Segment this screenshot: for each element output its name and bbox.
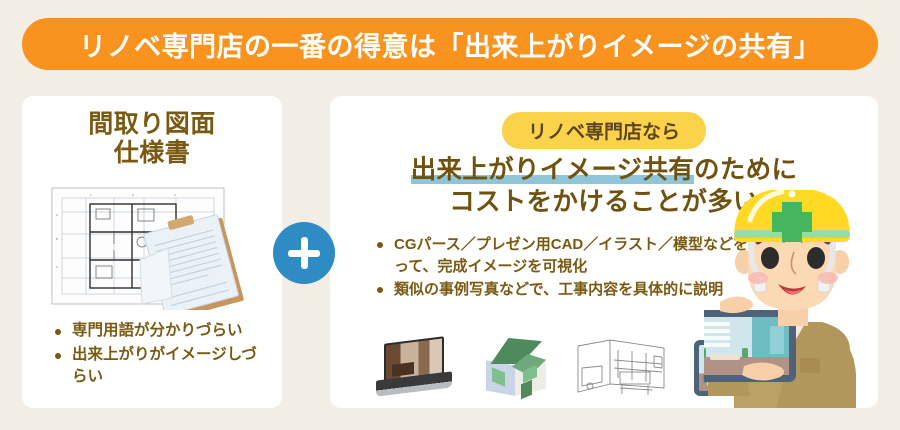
status-badge: リノベ専門店なら [502,112,706,149]
infographic-stage: リノベ専門店の一番の得意は「出来上がりイメージの共有」 間取り図面 仕様書 [0,0,900,430]
left-panel-title: 間取り図面 仕様書 [22,110,282,168]
line-sketch-drawing-thumbnail [576,338,668,400]
header-title: リノベ専門店の一番の得意は「出来上がりイメージの共有」 [79,25,821,64]
right-panel-card: リノベ専門店なら 出来上がりイメージ共有のために コストをかけることが多い CG… [330,96,878,408]
plus-icon [273,222,335,284]
svg-text:A: A [56,213,58,217]
left-bullet-list: 専門用語が分かりづらい 出来上がりがイメージしづらい [52,320,264,390]
house-3d-model-thumbnail [478,338,550,400]
svg-text:B: B [56,237,58,241]
headline-highlighted-text: 出来上がりイメージ共有 [411,156,694,184]
left-title-line1: 間取り図面 [22,110,282,139]
left-panel-card: 間取り図面 仕様書 [22,96,282,408]
floorplan-blueprint-illustration: 123 ABC [44,182,262,310]
list-item: 出来上がりがイメージしづらい [52,344,264,388]
header-banner: リノベ専門店の一番の得意は「出来上がりイメージの共有」 [22,18,878,70]
left-title-line2: 仕様書 [22,139,282,168]
list-item: 専門用語が分かりづらい [52,320,264,342]
laptop-cg-render-thumbnail [374,338,452,400]
headline-rest-text: のために [694,156,797,184]
construction-worker-with-tablet [704,190,878,408]
